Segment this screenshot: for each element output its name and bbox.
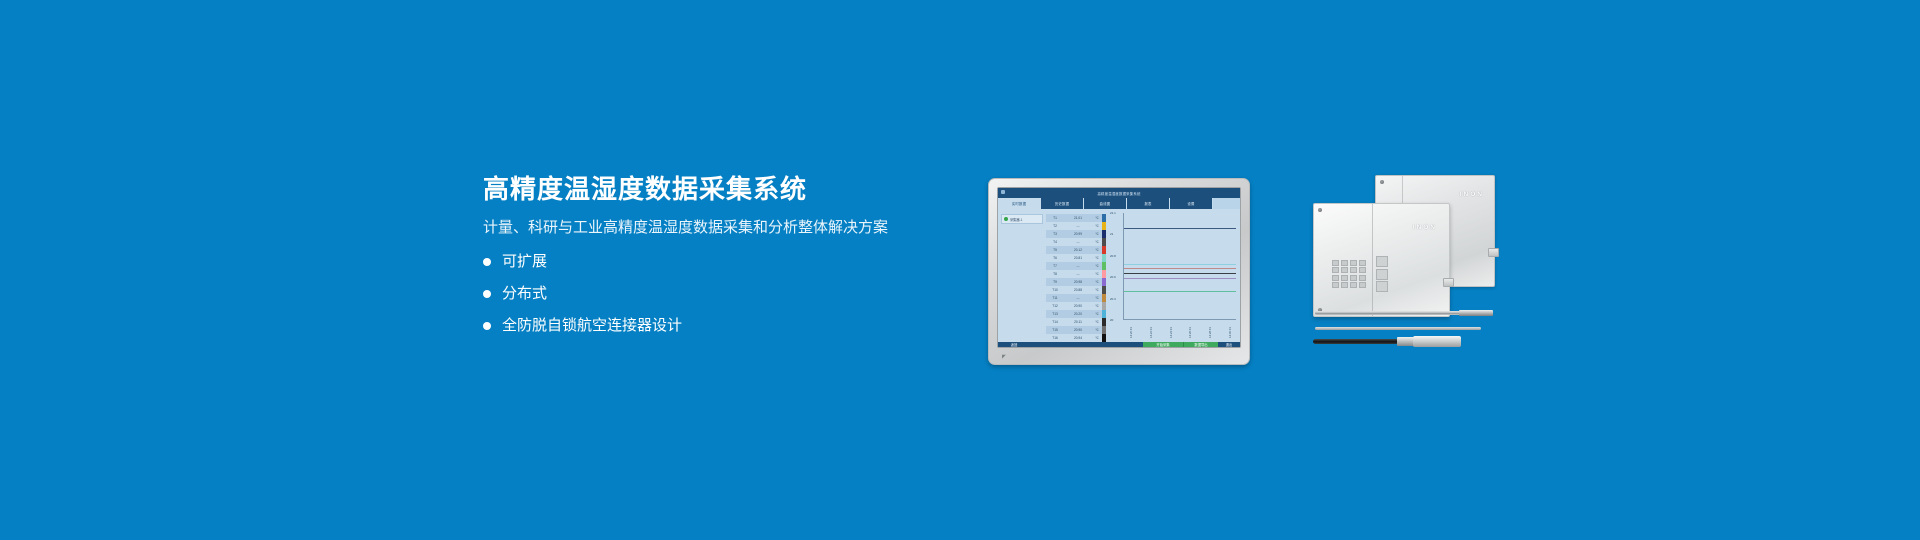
cell-channel: T14 [1046, 320, 1064, 324]
x-axis-tick-label: 14:20:01 [1130, 327, 1133, 338]
cell-channel: T10 [1046, 288, 1064, 292]
table-row[interactable]: T1520.90℃ [1046, 326, 1102, 334]
device-sidebar: 采集器-1 [998, 209, 1046, 342]
hero-subtitle: 计量、科研与工业高精度温湿度数据采集和分析整体解决方案 [483, 217, 953, 238]
brand-label: INON [1460, 191, 1484, 198]
screw-icon [1380, 180, 1384, 184]
connector-column [1376, 256, 1388, 292]
chart-x-axis: 14:20:0114:22:0114:24:0114:26:0114:28:01… [1123, 320, 1236, 338]
monitor-device: 高精度温湿度数据采集系统 实时数据 历史数据 曲线图 报表 [988, 178, 1250, 365]
cell-value: --- [1064, 272, 1092, 276]
cell-unit: ℃ [1092, 304, 1102, 308]
tab-label: 曲线图 [1100, 201, 1111, 206]
app-titlebar: 高精度温湿度数据采集系统 [998, 188, 1240, 198]
cell-channel: T7 [1046, 264, 1064, 268]
tabbar-filler [1213, 198, 1240, 209]
screw-icon [1318, 208, 1322, 212]
cell-value: --- [1064, 296, 1092, 300]
tab-label: 历史数据 [1055, 201, 1069, 206]
start-acquisition-button[interactable]: 开始采集 [1143, 342, 1183, 347]
table-row[interactable]: T4---℃ [1046, 238, 1102, 246]
cell-unit: ℃ [1092, 272, 1102, 276]
chart-y-axis: 21.12120.820.620.320 [1110, 213, 1122, 320]
y-axis-tick-label: 21 [1110, 232, 1113, 236]
monitor-stand-base: ◤ [988, 348, 1250, 365]
device-label: 采集器-1 [1010, 217, 1022, 222]
cell-value: 20.81 [1064, 256, 1092, 260]
table-row[interactable]: T2---℃ [1046, 222, 1102, 230]
cell-unit: ℃ [1092, 224, 1102, 228]
enclosure-front: INON [1313, 203, 1450, 317]
bullet-dot-icon [483, 322, 491, 330]
chart-series-line [1124, 268, 1236, 269]
list-item: 可扩展 [483, 254, 953, 269]
cell-unit: ℃ [1092, 320, 1102, 324]
footer-spacer [1030, 342, 1143, 347]
cell-value: 20.90 [1064, 304, 1092, 308]
page-title: 高精度温湿度数据采集系统 [483, 174, 953, 205]
connector-grid [1332, 260, 1366, 288]
channel-table: T121.01℃T2---℃T320.99℃T4---℃T520.12℃T620… [1046, 209, 1102, 342]
y-axis-tick-label: 21.1 [1110, 211, 1116, 215]
chart-series-line [1124, 264, 1236, 265]
cell-unit: ℃ [1092, 264, 1102, 268]
app-body: 采集器-1 T121.01℃T2---℃T320.99℃T4---℃T520.1… [998, 209, 1240, 342]
cell-value: 20.98 [1064, 280, 1092, 284]
tab-label: 实时数据 [1012, 201, 1026, 206]
cell-value: 20.88 [1064, 288, 1092, 292]
cell-value: 20.11 [1064, 320, 1092, 324]
tab-curve[interactable]: 曲线图 [1084, 198, 1127, 209]
tab-label: 报表 [1144, 201, 1151, 206]
app-window-title: 高精度温湿度数据采集系统 [1097, 191, 1140, 196]
export-data-button[interactable]: 数据导出 [1183, 342, 1218, 347]
tab-realtime[interactable]: 实时数据 [998, 198, 1041, 209]
x-axis-tick-label: 14:26:01 [1189, 327, 1192, 338]
chart-plot-area [1123, 213, 1236, 320]
monitor-logo: ◤ [1002, 354, 1006, 360]
cell-unit: ℃ [1092, 232, 1102, 236]
cabled-sensor-probe [1313, 339, 1399, 344]
x-axis-tick-label: 14:24:01 [1170, 327, 1173, 338]
cell-channel: T15 [1046, 328, 1064, 332]
probe-tip [1459, 310, 1493, 316]
cell-channel: T16 [1046, 336, 1064, 340]
menu-icon[interactable] [1001, 190, 1005, 194]
chart-series-line [1124, 228, 1236, 229]
cell-channel: T5 [1046, 248, 1064, 252]
table-row[interactable]: T8---℃ [1046, 270, 1102, 278]
feature-label: 全防脱自锁航空连接器设计 [502, 318, 682, 333]
status-online-icon [1004, 217, 1008, 221]
feature-label: 分布式 [502, 286, 547, 301]
cell-channel: T1 [1046, 216, 1064, 220]
bullet-dot-icon [483, 290, 491, 298]
table-row[interactable]: T320.99℃ [1046, 230, 1102, 238]
y-axis-tick-label: 20.8 [1110, 254, 1116, 258]
connector-port-icon [1443, 278, 1454, 287]
cell-value: 20.94 [1064, 336, 1092, 340]
table-row[interactable]: T1620.94℃ [1046, 334, 1102, 342]
tab-history[interactable]: 历史数据 [1041, 198, 1084, 209]
feature-list: 可扩展 分布式 全防脱自锁航空连接器设计 [483, 254, 953, 333]
cell-value: 20.90 [1064, 328, 1092, 332]
cell-channel: T2 [1046, 224, 1064, 228]
feature-label: 可扩展 [502, 254, 547, 269]
cell-value: 20.99 [1064, 232, 1092, 236]
tab-report[interactable]: 报表 [1127, 198, 1170, 209]
cell-unit: ℃ [1092, 288, 1102, 292]
cell-value: 21.01 [1064, 216, 1092, 220]
cell-value: 20.20 [1064, 312, 1092, 316]
x-axis-tick-label: 14:30:01 [1229, 327, 1232, 338]
table-row[interactable]: T121.01℃ [1046, 214, 1102, 222]
cell-unit: ℃ [1092, 216, 1102, 220]
list-item: 全防脱自锁航空连接器设计 [483, 318, 953, 333]
table-row[interactable]: T620.81℃ [1046, 254, 1102, 262]
cell-unit: ℃ [1092, 336, 1102, 340]
temperature-probe-rod [1315, 311, 1463, 315]
chart-series-line [1124, 291, 1236, 292]
cell-unit: ℃ [1092, 248, 1102, 252]
table-row[interactable]: T1220.90℃ [1046, 302, 1102, 310]
cell-unit: ℃ [1092, 240, 1102, 244]
x-axis-tick-label: 14:28:01 [1209, 327, 1212, 338]
table-row[interactable]: T1420.11℃ [1046, 318, 1102, 326]
cell-unit: ℃ [1092, 296, 1102, 300]
cell-value: --- [1064, 264, 1092, 268]
table-row[interactable]: T11---℃ [1046, 294, 1102, 302]
list-item: 分布式 [483, 286, 953, 301]
product-hero-banner: 高精度温湿度数据采集系统 计量、科研与工业高精度温湿度数据采集和分析整体解决方案… [0, 0, 1920, 540]
monitor-screen-frame: 高精度温湿度数据采集系统 实时数据 历史数据 曲线图 报表 [997, 187, 1241, 348]
hero-text-block: 高精度温湿度数据采集系统 计量、科研与工业高精度温湿度数据采集和分析整体解决方案… [483, 174, 953, 350]
tab-label: 设置 [1187, 201, 1194, 206]
y-axis-tick-label: 20.6 [1110, 275, 1116, 279]
table-row[interactable]: T7---℃ [1046, 262, 1102, 270]
sidebar-item-device[interactable]: 采集器-1 [1001, 214, 1043, 224]
probe-barrel [1413, 336, 1461, 347]
table-row[interactable]: T1020.88℃ [1046, 286, 1102, 294]
cell-channel: T3 [1046, 232, 1064, 236]
app-tabbar: 实时数据 历史数据 曲线图 报表 设置 [998, 198, 1240, 209]
cell-value: --- [1064, 224, 1092, 228]
cell-channel: T12 [1046, 304, 1064, 308]
trend-chart: 21.12120.820.620.320 14:20:0114:22:0114:… [1106, 209, 1240, 342]
back-button[interactable]: 返回 [998, 342, 1030, 347]
thin-sensor-wire [1315, 327, 1481, 330]
cell-channel: T4 [1046, 240, 1064, 244]
table-row[interactable]: T520.12℃ [1046, 246, 1102, 254]
brand-label: INON [1413, 224, 1437, 231]
cell-unit: ℃ [1092, 328, 1102, 332]
y-axis-tick-label: 20.3 [1110, 297, 1116, 301]
cell-channel: T11 [1046, 296, 1064, 300]
cell-channel: T9 [1046, 280, 1064, 284]
table-row[interactable]: T1320.20℃ [1046, 310, 1102, 318]
cell-value: 20.12 [1064, 248, 1092, 252]
cell-unit: ℃ [1092, 256, 1102, 260]
app-footer: 返回 开始采集 数据导出 退出 [998, 342, 1240, 347]
cell-unit: ℃ [1092, 312, 1102, 316]
hardware-group: INON INON [1313, 175, 1498, 355]
exit-button[interactable]: 退出 [1218, 342, 1240, 347]
y-axis-tick-label: 20 [1110, 318, 1113, 322]
cell-channel: T13 [1046, 312, 1064, 316]
x-axis-tick-label: 14:22:01 [1150, 327, 1153, 338]
cell-value: --- [1064, 240, 1092, 244]
cell-channel: T8 [1046, 272, 1064, 276]
chart-series-line [1124, 273, 1236, 274]
bullet-dot-icon [483, 258, 491, 266]
chart-series-line [1124, 278, 1236, 279]
software-screen: 高精度温湿度数据采集系统 实时数据 历史数据 曲线图 报表 [998, 188, 1240, 347]
cell-unit: ℃ [1092, 280, 1102, 284]
cell-channel: T6 [1046, 256, 1064, 260]
panel-seam [1372, 204, 1373, 316]
tab-settings[interactable]: 设置 [1170, 198, 1213, 209]
connector-port-icon [1488, 248, 1499, 257]
table-row[interactable]: T920.98℃ [1046, 278, 1102, 286]
